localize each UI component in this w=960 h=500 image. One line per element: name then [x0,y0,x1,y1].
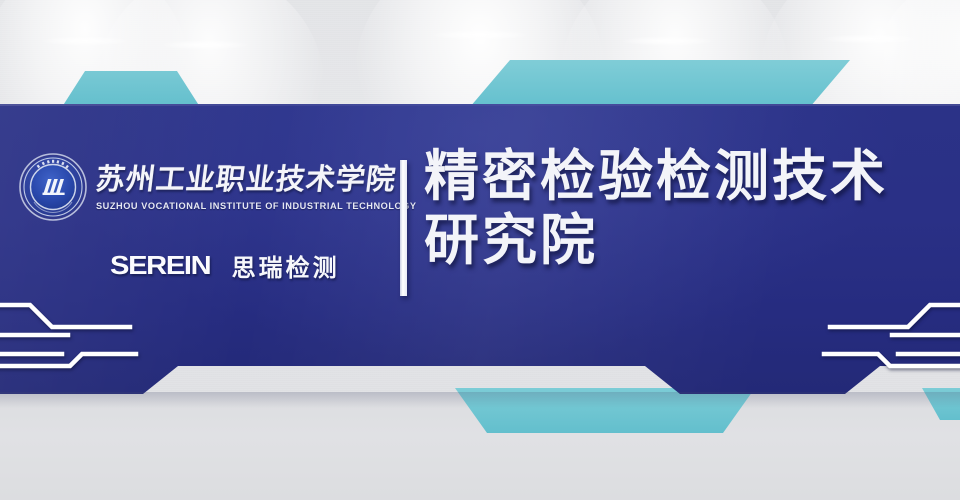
page-title: 精密检验检测技术 研究院 [424,144,944,273]
suzhou-institute-crest-icon [18,152,88,222]
title-line-2: 研究院 [424,208,944,272]
vertical-divider [400,160,407,296]
university-identity-row: 苏州工业职业技术学院 SUZHOU VOCATIONAL INSTITUTE O… [18,152,393,222]
partner-name-cn: 思瑞检测 [232,248,340,283]
lamp-core [430,30,530,40]
teal-panel-bottom-center [455,388,755,433]
lamp-core [620,36,715,46]
title-line-1: 精密检验检测技术 [424,144,944,208]
lamp-core [820,34,920,44]
lamp-core [40,36,130,46]
lamp-core [160,40,250,50]
serein-wordmark: SEREIN [110,250,210,281]
teal-panel-top-right [470,60,850,107]
university-names: 苏州工业职业技术学院 SUZHOU VOCATIONAL INSTITUTE O… [96,163,393,210]
partner-identity-row: SEREIN 思瑞检测 [110,248,393,283]
university-name-en: SUZHOU VOCATIONAL INSTITUTE OF INDUSTRIA… [96,201,393,211]
banner-content: 苏州工业职业技术学院 SUZHOU VOCATIONAL INSTITUTE O… [0,104,960,394]
institution-block: 苏州工业职业技术学院 SUZHOU VOCATIONAL INSTITUTE O… [18,152,393,283]
signage-scene: 苏州工业职业技术学院 SUZHOU VOCATIONAL INSTITUTE O… [0,0,960,500]
university-name-cn: 苏州工业职业技术学院 [94,165,395,195]
